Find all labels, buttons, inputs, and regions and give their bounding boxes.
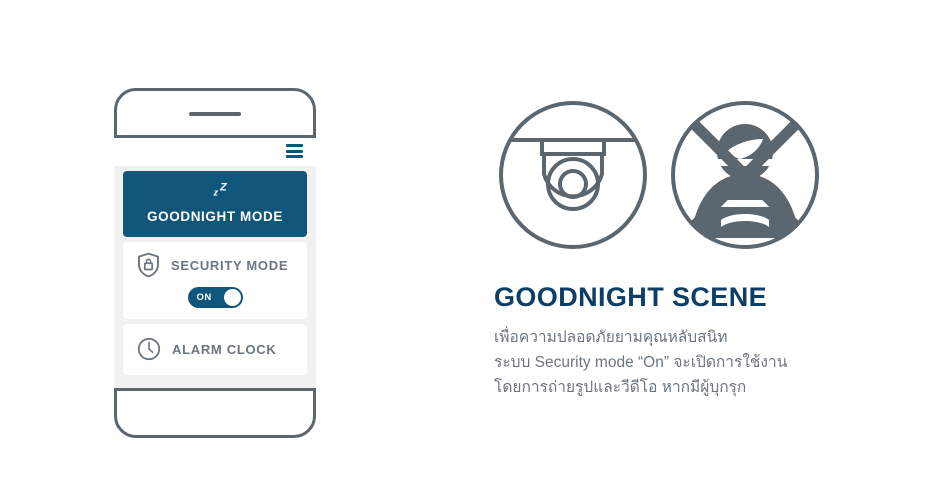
smartphone-mockup: z Z GOODNIGHT MODE SECURITY MODE ON [114, 88, 316, 438]
security-toggle-state-label: ON [197, 292, 212, 303]
security-mode-card[interactable]: SECURITY MODE ON [123, 242, 307, 319]
security-mode-toggle[interactable]: ON [188, 287, 243, 308]
hamburger-menu-icon[interactable] [286, 144, 303, 158]
phone-speaker-grille [189, 112, 241, 116]
security-toggle-wrapper: ON [123, 287, 307, 308]
description-line: เพื่อความปลอดภัยยามคุณหลับสนิท [494, 325, 894, 350]
description-line: ระบบ Security mode “On” จะเปิดการใช้งาน [494, 350, 894, 375]
alarm-clock-label: ALARM CLOCK [172, 342, 276, 357]
cctv-dome-camera-icon [494, 96, 652, 254]
security-mode-row: SECURITY MODE [123, 252, 307, 278]
goodnight-mode-card[interactable]: z Z GOODNIGHT MODE [123, 171, 307, 237]
hamburger-bar [286, 144, 303, 147]
description-line: โดยการถ่ายรูปและวีดีโอ หากมีผู้บุกรุก [494, 375, 894, 400]
toggle-knob[interactable] [224, 289, 241, 306]
security-mode-label: SECURITY MODE [171, 258, 288, 273]
moon-zz-icon: z Z [194, 181, 236, 203]
no-intruder-icon [666, 96, 824, 254]
phone-screen: z Z GOODNIGHT MODE SECURITY MODE ON [114, 135, 316, 391]
page-title: GOODNIGHT SCENE [494, 284, 894, 311]
shield-lock-icon [137, 252, 160, 278]
alarm-clock-row: ALARM CLOCK [123, 337, 307, 361]
scene-description: เพื่อความปลอดภัยยามคุณหลับสนิท ระบบ Secu… [494, 325, 894, 400]
app-top-bar [114, 138, 316, 166]
scene-icon-group [494, 96, 894, 254]
goodnight-mode-label: GOODNIGHT MODE [123, 209, 307, 224]
svg-text:Z: Z [219, 182, 228, 194]
alarm-clock-card[interactable]: ALARM CLOCK [123, 324, 307, 375]
hamburger-bar [286, 155, 303, 158]
hamburger-bar [286, 150, 303, 153]
clock-icon [137, 337, 161, 361]
svg-text:z: z [213, 188, 219, 198]
goodnight-scene-info-panel: GOODNIGHT SCENE เพื่อความปลอดภัยยามคุณหล… [494, 96, 894, 400]
